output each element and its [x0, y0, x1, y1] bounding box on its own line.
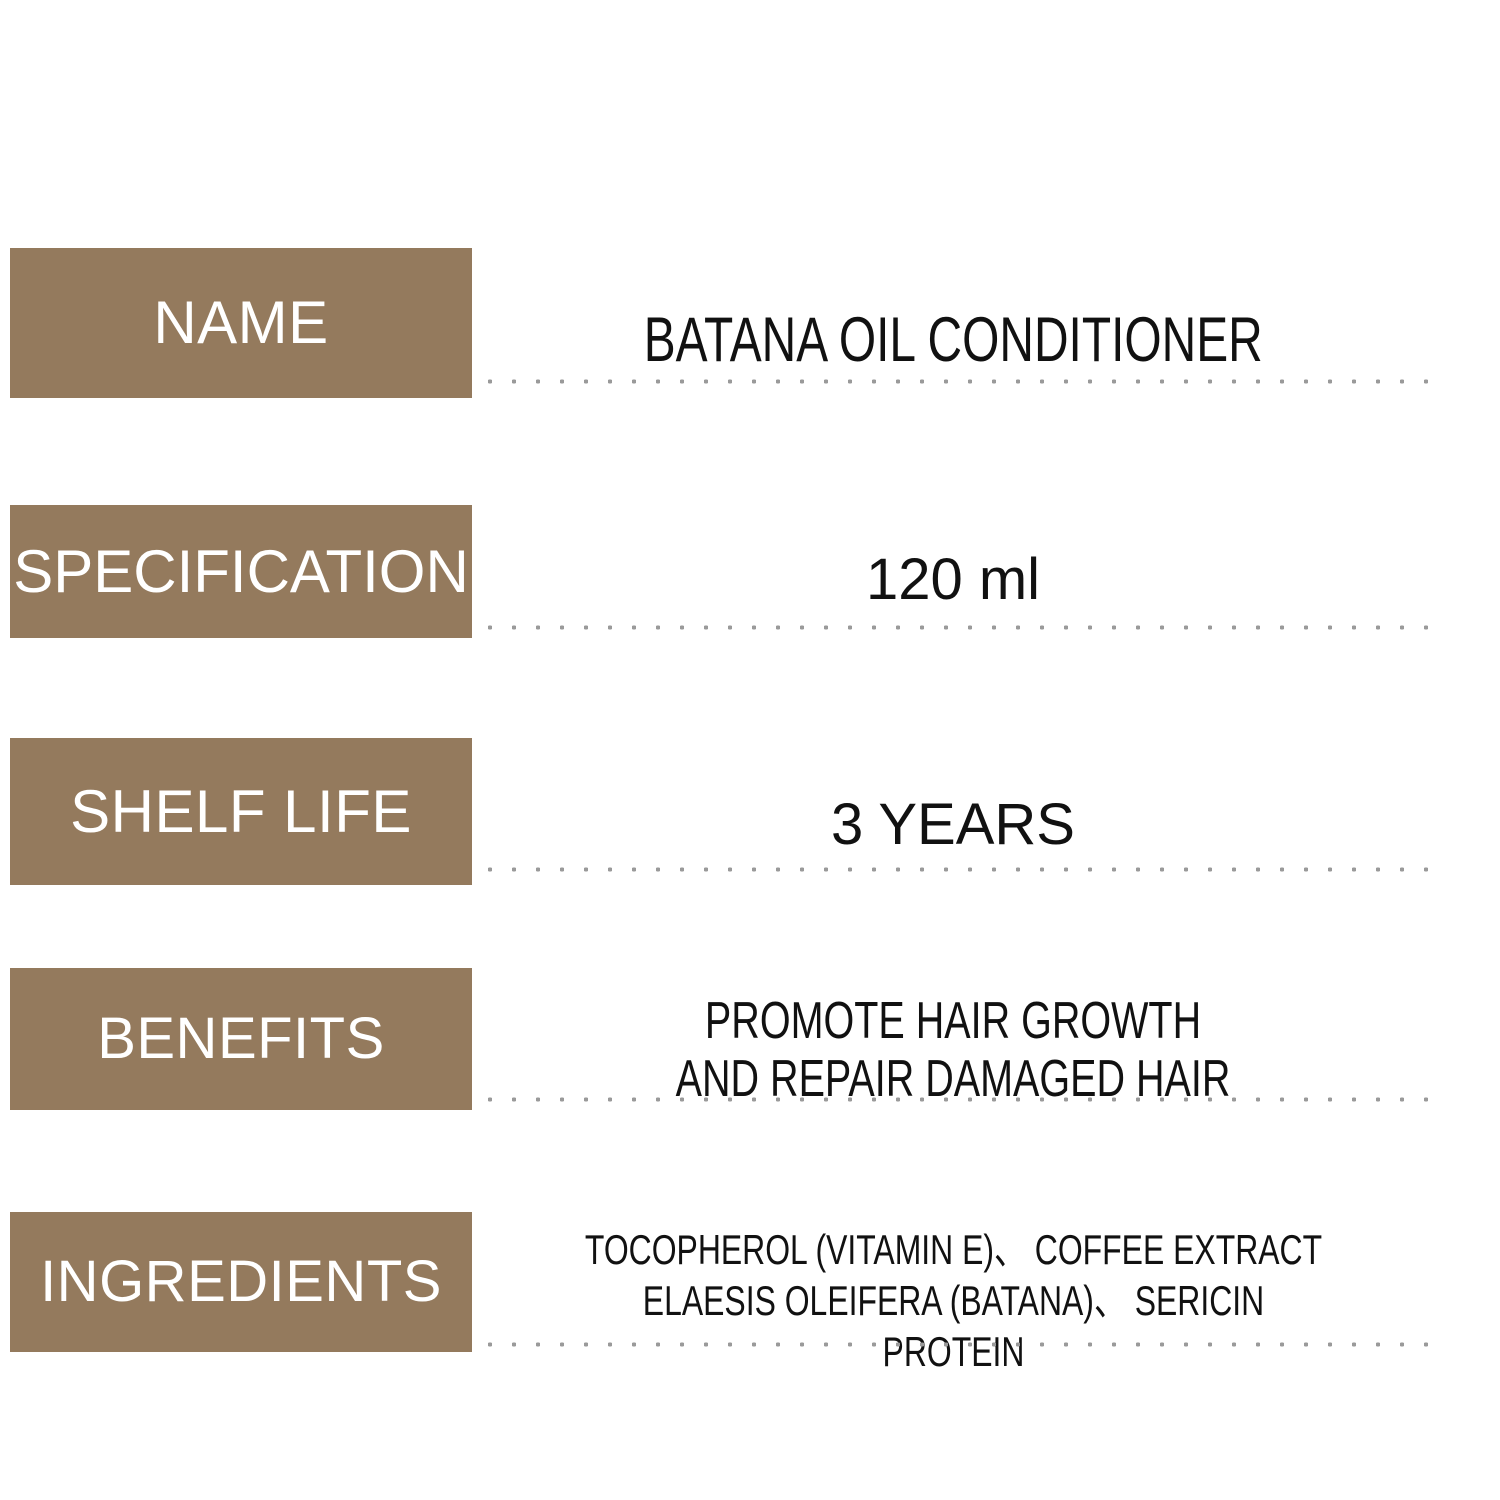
value-text-name: BATANA OIL CONDITIONER: [644, 305, 1263, 376]
label-text-shelf-life: SHELF LIFE: [70, 782, 412, 842]
label-text-specification: SPECIFICATION: [13, 542, 469, 602]
dotted-separator-benefits: [478, 1096, 1432, 1103]
value-cell-benefits: PROMOTE HAIR GROWTH AND REPAIR DAMAGED H…: [472, 995, 1434, 1105]
dotted-separator-specification: [478, 624, 1432, 631]
value-text-ingredients: TOCOPHEROL (VITAMIN E)、 COFFEE EXTRACT E…: [583, 1224, 1324, 1378]
dotted-separator-shelf-life: [478, 866, 1432, 873]
label-text-name: NAME: [153, 293, 328, 353]
label-text-benefits: BENEFITS: [97, 1010, 385, 1068]
dotted-separator-ingredients: [478, 1341, 1432, 1348]
value-text-benefits: PROMOTE HAIR GROWTH AND REPAIR DAMAGED H…: [676, 992, 1231, 1108]
value-text-shelf-life: 3 YEARS: [831, 793, 1075, 858]
value-text-specification: 120 ml: [866, 548, 1040, 613]
label-chip-shelf-life: SHELF LIFE: [10, 738, 472, 885]
label-chip-benefits: BENEFITS: [10, 968, 472, 1110]
label-chip-name: NAME: [10, 248, 472, 398]
value-cell-shelf-life: 3 YEARS: [472, 775, 1434, 875]
dotted-separator-name: [478, 378, 1432, 385]
label-chip-specification: SPECIFICATION: [10, 505, 472, 638]
value-cell-name: BATANA OIL CONDITIONER: [472, 290, 1434, 390]
value-cell-ingredients: TOCOPHEROL (VITAMIN E)、 COFFEE EXTRACT E…: [466, 1248, 1441, 1353]
label-text-ingredients: INGREDIENTS: [40, 1253, 442, 1311]
product-specification-sheet: NAME BATANA OIL CONDITIONER SPECIFICATIO…: [0, 0, 1500, 1500]
value-cell-specification: 120 ml: [472, 530, 1434, 630]
label-chip-ingredients: INGREDIENTS: [10, 1212, 472, 1352]
